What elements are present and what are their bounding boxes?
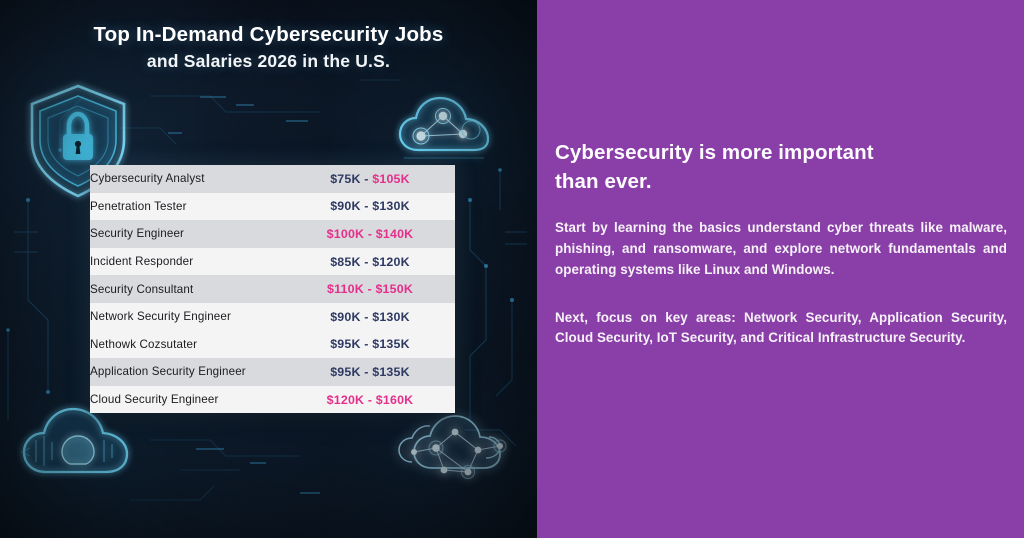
- job-title-cell: Security Consultant: [90, 275, 285, 303]
- table-row: Nethowk Cozsutater$95K - $135K: [90, 331, 455, 359]
- table-row: Cybersecurity Analyst$75K - $105K: [90, 165, 455, 193]
- heading-line-1: Cybersecurity is more important: [555, 138, 1007, 167]
- table-row: Cloud Security Engineer$120K - $160K: [90, 386, 455, 414]
- table-row: Security Consultant$110K - $150K: [90, 275, 455, 303]
- job-title-cell: Cloud Security Engineer: [90, 386, 285, 414]
- salary-range-cell: $120K - $160K: [285, 386, 455, 414]
- title-line-2: and Salaries 2026 in the U.S.: [0, 50, 537, 73]
- job-title-cell: Incident Responder: [90, 248, 285, 276]
- salary-range-cell: $75K - $105K: [285, 165, 455, 193]
- salary-range-cell: $95K - $135K: [285, 358, 455, 386]
- description-paragraph-1: Start by learning the basics understand …: [555, 218, 1007, 280]
- page-title: Top In-Demand Cybersecurity Jobs and Sal…: [0, 22, 537, 72]
- title-line-1: Top In-Demand Cybersecurity Jobs: [0, 22, 537, 48]
- table-row: Network Security Engineer$90K - $130K: [90, 303, 455, 331]
- job-title-cell: Application Security Engineer: [90, 358, 285, 386]
- cyber-infographic-panel: Top In-Demand Cybersecurity Jobs and Sal…: [0, 0, 537, 538]
- salary-high: $105K: [372, 172, 410, 186]
- cloud-network-icon: [400, 98, 488, 158]
- job-title-cell: Security Engineer: [90, 220, 285, 248]
- job-title-cell: Network Security Engineer: [90, 303, 285, 331]
- salary-range-cell: $110K - $150K: [285, 275, 455, 303]
- cloud-data-icon: [22, 409, 127, 472]
- salary-range-cell: $85K - $120K: [285, 248, 455, 276]
- table-row: Incident Responder$85K - $120K: [90, 248, 455, 276]
- job-title-cell: Penetration Tester: [90, 193, 285, 221]
- salary-range-cell: $95K - $135K: [285, 331, 455, 359]
- infographic-slide: Top In-Demand Cybersecurity Jobs and Sal…: [0, 0, 1024, 538]
- table-row: Application Security Engineer$95K - $135…: [90, 358, 455, 386]
- table-row: Penetration Tester$90K - $130K: [90, 193, 455, 221]
- heading-line-2: than ever.: [555, 167, 1007, 196]
- salary-table-body: Cybersecurity Analyst$75K - $105KPenetra…: [90, 165, 455, 413]
- salary-range-cell: $100K - $140K: [285, 220, 455, 248]
- salary-low: $75K -: [330, 172, 372, 186]
- salary-range-cell: $90K - $130K: [285, 303, 455, 331]
- salary-table: Cybersecurity Analyst$75K - $105KPenetra…: [90, 165, 455, 413]
- description-content: Cybersecurity is more important than eve…: [555, 138, 1007, 349]
- table-row: Security Engineer$100K - $140K: [90, 220, 455, 248]
- salary-range-cell: $90K - $130K: [285, 193, 455, 221]
- description-paragraph-2: Next, focus on key areas: Network Securi…: [555, 308, 1007, 350]
- description-panel: Cybersecurity is more important than eve…: [537, 0, 1024, 538]
- cloud-nodes-icon: [399, 416, 506, 479]
- description-heading: Cybersecurity is more important than eve…: [555, 138, 1007, 196]
- job-title-cell: Cybersecurity Analyst: [90, 165, 285, 193]
- job-title-cell: Nethowk Cozsutater: [90, 331, 285, 359]
